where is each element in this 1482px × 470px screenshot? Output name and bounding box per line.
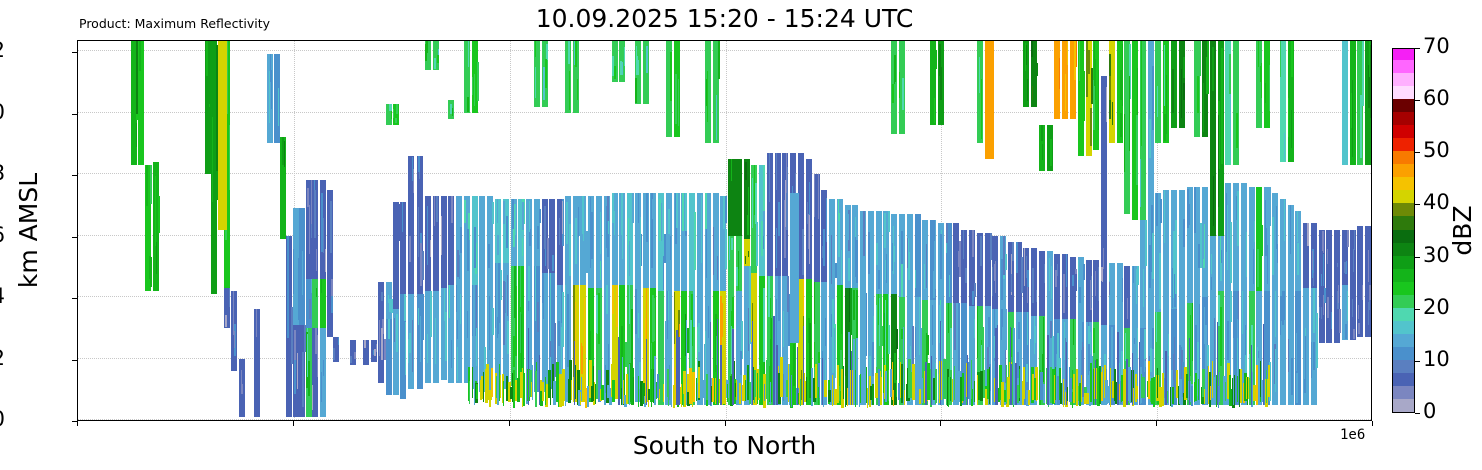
reflectivity-column [764, 40, 765, 420]
reflectivity-cell [460, 294, 461, 324]
reflectivity-cell [851, 351, 852, 405]
colorbar-tick-mark [1415, 257, 1420, 258]
reflectivity-cell [294, 360, 296, 394]
x-axis-label: South to North [77, 431, 1372, 460]
reflectivity-cell [571, 380, 572, 400]
colorbar-tick-label: 60 [1423, 86, 1450, 110]
reflectivity-column [1308, 40, 1309, 420]
reflectivity-cell [710, 322, 711, 404]
reflectivity-cell [270, 54, 271, 81]
reflectivity-cell [1323, 295, 1324, 315]
reflectivity-column [1081, 40, 1082, 420]
reflectivity-cell [1011, 364, 1012, 405]
reflectivity-column [678, 40, 680, 420]
reflectivity-cell [1117, 332, 1119, 404]
reflectivity-column [571, 40, 572, 420]
reflectivity-column [327, 40, 328, 420]
reflectivity-column [1013, 40, 1015, 420]
colorbar-tick-mark [1415, 204, 1420, 205]
reflectivity-cell [818, 387, 819, 405]
reflectivity-column [321, 40, 322, 420]
reflectivity-column [169, 40, 175, 420]
reflectivity-cell [1237, 376, 1238, 403]
reflectivity-cell [376, 344, 377, 352]
reflectivity-cell [1353, 329, 1355, 339]
reflectivity-cell [500, 375, 501, 398]
colorbar-tick-mark [1415, 309, 1420, 310]
reflectivity-column [1277, 40, 1278, 420]
reflectivity-cell [422, 294, 424, 340]
reflectivity-cell [1361, 299, 1362, 314]
reflectivity-cell [880, 377, 882, 405]
reflectivity-cell [954, 366, 955, 399]
reflectivity-column [1327, 40, 1329, 420]
reflectivity-cell [491, 368, 493, 398]
colorbar-band [1393, 72, 1414, 86]
reflectivity-column [824, 40, 827, 420]
colorbar-band [1393, 48, 1414, 60]
reflectivity-column [412, 40, 413, 420]
reflectivity-column [1307, 40, 1309, 420]
x-axis-tick-mark [1156, 421, 1157, 426]
colorbar-band [1393, 176, 1414, 190]
reflectivity-column [1010, 40, 1011, 420]
reflectivity-cell [720, 345, 722, 405]
reflectivity-cell [754, 370, 756, 397]
reflectivity-cell [1121, 387, 1122, 402]
reflectivity-cell [1339, 309, 1341, 333]
reflectivity-column [1331, 40, 1332, 420]
reflectivity-column [373, 40, 374, 420]
reflectivity-cell [476, 384, 478, 398]
reflectivity-cell [367, 348, 368, 361]
reflectivity-column [1237, 40, 1238, 420]
reflectivity-column [1258, 40, 1260, 420]
reflectivity-cell [469, 381, 470, 404]
y-axis-tick-mark [72, 360, 77, 361]
reflectivity-column [622, 40, 623, 420]
reflectivity-column [683, 40, 684, 420]
reflectivity-column [595, 40, 596, 420]
reflectivity-column [1368, 40, 1369, 420]
reflectivity-column [233, 40, 234, 420]
reflectivity-column [671, 40, 672, 420]
reflectivity-column [1212, 40, 1213, 420]
reflectivity-column [853, 40, 855, 420]
reflectivity-column [297, 40, 298, 420]
reflectivity-cell [327, 205, 328, 232]
reflectivity-column [1137, 40, 1138, 420]
reflectivity-cell [790, 193, 799, 344]
reflectivity-cell [1189, 338, 1190, 404]
y-axis-tick-mark [72, 114, 77, 115]
reflectivity-column [1189, 40, 1190, 420]
y-axis-tick-label: 6 [0, 223, 5, 247]
reflectivity-column [209, 40, 210, 420]
reflectivity-cell [1338, 285, 1339, 304]
y-axis-tick-label: 12 [0, 38, 5, 62]
reflectivity-cell [676, 330, 678, 405]
colorbar-band [1393, 85, 1414, 99]
colorbar-band [1393, 189, 1414, 203]
reflectivity-column [967, 40, 968, 420]
reflectivity-column [539, 40, 540, 420]
colorbar-band [1393, 111, 1414, 125]
reflectivity-column [948, 40, 949, 420]
colorbar-band [1393, 150, 1414, 164]
reflectivity-column [422, 40, 424, 420]
reflectivity-cell [1283, 291, 1285, 320]
reflectivity-cell [1358, 323, 1360, 334]
reflectivity-column [638, 40, 639, 420]
reflectivity-cell [233, 291, 234, 335]
reflectivity-column [940, 40, 941, 420]
reflectivity-column [633, 40, 634, 420]
reflectivity-cell [1258, 358, 1260, 405]
reflectivity-cell [1172, 387, 1174, 404]
x-axis-tick-mark [1372, 421, 1373, 426]
colorbar-label: dBZ [1448, 48, 1476, 413]
reflectivity-cell [771, 318, 772, 356]
reflectivity-column [155, 40, 156, 420]
reflectivity-cell [1030, 339, 1031, 404]
reflectivity-cell [757, 373, 758, 404]
x-axis-tick-mark [509, 421, 510, 426]
reflectivity-column [1313, 40, 1315, 420]
reflectivity-column [441, 40, 442, 420]
reflectivity-column [801, 40, 802, 420]
reflectivity-cell [364, 340, 366, 347]
reflectivity-column [921, 40, 922, 420]
reflectivity-cell [916, 360, 917, 405]
reflectivity-column [413, 40, 414, 420]
reflectivity-cell [638, 376, 639, 407]
reflectivity-cell [769, 366, 770, 401]
reflectivity-column [712, 40, 714, 420]
reflectivity-column [646, 40, 647, 420]
colorbar-band [1393, 163, 1414, 177]
reflectivity-column [1361, 40, 1362, 420]
colorbar-tick-mark [1415, 48, 1420, 49]
colorbar-wrap[interactable]: 010203040506070 [1392, 48, 1415, 413]
colorbar-band [1393, 398, 1414, 412]
reflectivity-column [943, 40, 946, 420]
reflectivity-column [476, 40, 478, 420]
reflectivity-cell [678, 337, 680, 405]
reflectivity-cell [155, 176, 156, 246]
reflectivity-cell [209, 53, 210, 105]
reflectivity-cell [1092, 356, 1093, 405]
reflectivity-column [635, 40, 637, 420]
reflectivity-cell [474, 345, 475, 405]
y-axis-tick-label: 4 [0, 284, 5, 308]
reflectivity-cell [1247, 377, 1248, 405]
reflectivity-cell [921, 328, 922, 405]
reflectivity-column [706, 40, 708, 420]
reflectivity-column [1117, 40, 1119, 420]
reflectivity-cell [943, 359, 946, 399]
reflectivity-cell [1060, 383, 1062, 405]
reflectivity-cell [663, 384, 664, 402]
reflectivity-column [545, 40, 546, 420]
reflectivity-column [745, 40, 746, 420]
reflectivity-column [491, 40, 493, 420]
reflectivity-cell [940, 321, 941, 405]
reflectivity-column [811, 40, 813, 420]
reflectivity-cell [971, 360, 972, 399]
reflectivity-cell [872, 384, 874, 405]
reflectivity-column [776, 40, 778, 420]
reflectivity-column [1210, 40, 1211, 420]
reflectivity-column [974, 40, 975, 420]
reflectivity-column [562, 40, 564, 420]
reflectivity-column [693, 40, 695, 420]
reflectivity-cell [333, 348, 335, 355]
reflectivity-cell [1260, 361, 1261, 397]
reflectivity-cell [258, 357, 260, 381]
reflectivity-column [242, 40, 244, 420]
reflectivity-column [925, 40, 927, 420]
reflectivity-cell [839, 386, 840, 401]
reflectivity-column [681, 40, 682, 420]
reflectivity-cell [806, 377, 807, 402]
reflectivity-cell [845, 376, 846, 408]
reflectivity-column [1172, 40, 1174, 420]
reflectivity-cell [374, 349, 376, 356]
x-axis-tick-mark [940, 421, 941, 426]
reflectivity-column [903, 40, 904, 420]
figure-title: 10.09.2025 15:20 - 15:24 UTC [77, 4, 1372, 33]
reflectivity-column [1234, 40, 1235, 420]
reflectivity-column [985, 40, 994, 420]
reflectivity-column [867, 40, 868, 420]
colorbar-tick-label: 20 [1423, 295, 1450, 319]
reflectivity-column [1225, 40, 1226, 420]
reflectivity-cell [1165, 351, 1167, 405]
reflectivity-column [720, 40, 722, 420]
reflectivity-column [1092, 40, 1093, 420]
reflectivity-cell [212, 117, 213, 202]
colorbar[interactable] [1392, 48, 1415, 413]
colorbar-tick-mark [1415, 152, 1420, 153]
reflectivity-cell [801, 370, 802, 400]
reflectivity-cell [618, 340, 620, 405]
y-axis-label: km AMSL [14, 40, 44, 421]
reflectivity-cell [1345, 324, 1347, 339]
reflectivity-column [935, 40, 937, 420]
reflectivity-cell [354, 352, 356, 359]
colorbar-band [1393, 202, 1414, 216]
reflectivity-column [1066, 40, 1067, 420]
reflectivity-column [931, 40, 932, 420]
reflectivity-column [396, 40, 398, 420]
x-axis-tick-mark [725, 421, 726, 426]
reflectivity-column [790, 40, 799, 420]
reflectivity-cell [444, 292, 445, 321]
reflectivity-cell [445, 312, 447, 361]
reflectivity-column [916, 40, 917, 420]
reflectivity-column [806, 40, 807, 420]
colorbar-band [1393, 346, 1414, 360]
reflectivity-cell [635, 391, 637, 403]
reflectivity-column [317, 40, 318, 420]
reflectivity-column [665, 40, 666, 420]
reflectivity-cell [1331, 312, 1332, 329]
reflectivity-column [376, 40, 377, 420]
reflectivity-column [1006, 40, 1007, 420]
colorbar-tick-label: 30 [1423, 243, 1450, 267]
colorbar-band [1393, 216, 1414, 230]
reflectivity-cell [668, 381, 669, 405]
colorbar-band [1393, 268, 1414, 282]
reflectivity-column [287, 40, 289, 420]
reflectivity-cell [931, 356, 932, 405]
reflectivity-cell [323, 360, 324, 376]
reflectivity-cell [648, 389, 650, 400]
reflectivity-column [1134, 40, 1135, 420]
reflectivity-column [1047, 40, 1049, 420]
reflectivity-column [1251, 40, 1252, 420]
reflectivity-cell [1212, 361, 1213, 398]
reflectivity-column [269, 40, 270, 420]
y-axis-label-wrap: km AMSL [22, 40, 52, 421]
reflectivity-column [374, 40, 376, 420]
reflectivity-cell [1157, 368, 1158, 398]
reflectivity-cell [441, 216, 442, 254]
reflectivity-cell [528, 328, 529, 405]
reflectivity-cell [1145, 367, 1146, 404]
reflectivity-cell [853, 339, 855, 404]
reflectivity-cell [1126, 359, 1128, 405]
reflectivity-cell [242, 364, 244, 384]
plot-axes[interactable] [77, 40, 1372, 421]
reflectivity-cell [893, 390, 894, 406]
reflectivity-cell [388, 319, 390, 338]
reflectivity-cell [935, 369, 937, 403]
reflectivity-column [457, 40, 458, 420]
reflectivity-column [759, 40, 760, 420]
reflectivity-column [364, 40, 366, 420]
reflectivity-column [1304, 40, 1305, 420]
reflectivity-cell [574, 341, 575, 405]
reflectivity-cell [1056, 354, 1057, 405]
reflectivity-column [472, 40, 473, 420]
reflectivity-heatmap[interactable] [78, 41, 1371, 420]
reflectivity-cell [435, 318, 436, 364]
reflectivity-column [1266, 40, 1267, 420]
reflectivity-column [845, 40, 846, 420]
y-axis-tick-mark [72, 52, 77, 53]
reflectivity-column [156, 40, 157, 420]
reflectivity-cell [1134, 344, 1135, 404]
reflectivity-cell [1195, 373, 1197, 401]
colorbar-band [1393, 255, 1414, 269]
reflectivity-column [732, 40, 741, 420]
reflectivity-cell [696, 378, 697, 401]
y-axis-tick-label: 10 [0, 100, 5, 124]
reflectivity-cell [274, 84, 276, 127]
reflectivity-cell [885, 371, 887, 402]
reflectivity-cell [1327, 297, 1329, 318]
reflectivity-column [1205, 40, 1207, 420]
reflectivity-cell [449, 285, 450, 318]
reflectivity-cell [883, 393, 884, 404]
reflectivity-column [1345, 40, 1347, 420]
reflectivity-cell [532, 365, 533, 400]
reflectivity-column [1219, 40, 1220, 420]
reflectivity-column [460, 40, 462, 420]
reflectivity-column [1060, 40, 1062, 420]
reflectivity-cell [1307, 223, 1309, 246]
reflectivity-column [618, 40, 620, 420]
reflectivity-column [1198, 40, 1199, 420]
reflectivity-column [354, 40, 356, 420]
reflectivity-cell [1368, 285, 1369, 303]
reflectivity-cell [234, 331, 235, 348]
reflectivity-column [1369, 40, 1371, 420]
reflectivity-cell [732, 159, 741, 236]
reflectivity-column [803, 40, 804, 420]
colorbar-tick-label: 70 [1423, 34, 1450, 58]
reflectivity-cell [503, 381, 504, 406]
reflectivity-cell [925, 362, 927, 404]
reflectivity-cell [269, 71, 270, 123]
reflectivity-column [1153, 40, 1155, 420]
reflectivity-column [1019, 40, 1020, 420]
reflectivity-cell [856, 338, 858, 405]
x-axis-tick-mark [77, 421, 78, 426]
reflectivity-cell [967, 355, 968, 404]
colorbar-tick-label: 50 [1423, 138, 1450, 162]
colorbar-tick-mark [1415, 100, 1420, 101]
reflectivity-column [696, 40, 697, 420]
reflectivity-column [401, 40, 403, 420]
reflectivity-cell [671, 371, 672, 407]
reflectivity-cell [1139, 342, 1140, 404]
reflectivity-cell [681, 384, 682, 407]
reflectivity-cell [962, 373, 964, 401]
reflectivity-column [752, 40, 753, 420]
colorbar-tick-label: 0 [1423, 399, 1436, 423]
reflectivity-cell [752, 321, 753, 405]
reflectivity-column [1217, 40, 1218, 420]
reflectivity-column [773, 40, 775, 420]
reflectivity-column [1283, 40, 1285, 420]
reflectivity-cell [1304, 318, 1305, 379]
reflectivity-column [1275, 40, 1276, 420]
reflectivity-cell [413, 229, 414, 262]
reflectivity-cell [896, 380, 897, 397]
reflectivity-column [784, 40, 785, 420]
reflectivity-cell [150, 165, 152, 204]
reflectivity-column [1157, 40, 1158, 420]
reflectivity-column [408, 40, 409, 420]
reflectivity-column [158, 40, 160, 420]
reflectivity-column [968, 40, 970, 420]
reflectivity-column [294, 40, 296, 420]
reflectivity-column [1121, 40, 1122, 420]
reflectivity-cell [1313, 288, 1315, 333]
reflectivity-cell [1153, 377, 1155, 408]
reflectivity-column [307, 40, 308, 420]
reflectivity-cell [706, 374, 708, 399]
reflectivity-column [234, 40, 235, 420]
reflectivity-cell [985, 40, 994, 159]
reflectivity-cell [1217, 322, 1218, 404]
reflectivity-column [284, 40, 285, 420]
colorbar-band [1393, 59, 1414, 73]
colorbar-band [1393, 98, 1414, 112]
